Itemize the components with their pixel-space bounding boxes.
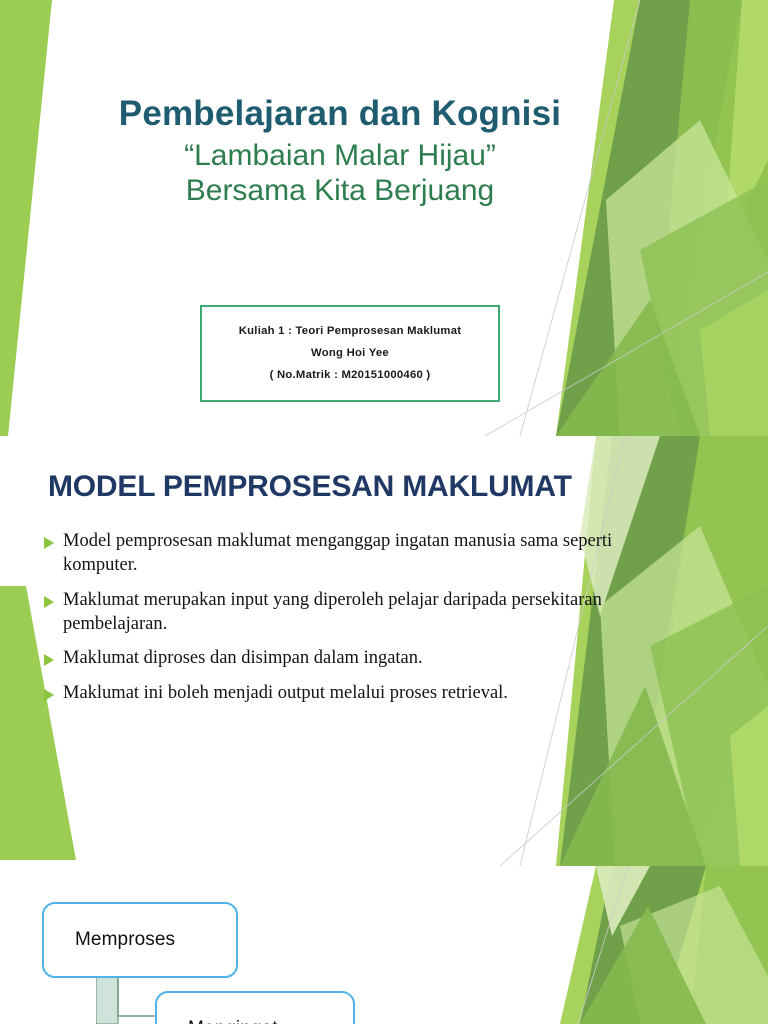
bullet-list: Model pemprosesan maklumat menganggap in… [44, 530, 624, 717]
list-item: Maklumat merupakan input yang diperoleh … [44, 589, 624, 637]
list-item-text: Model pemprosesan maklumat menganggap in… [63, 530, 624, 578]
list-item-text: Maklumat merupakan input yang diperoleh … [63, 589, 624, 637]
list-item-text: Maklumat diproses dan disimpan dalam ing… [63, 647, 423, 671]
subtitle-line-1: “Lambaian Malar Hijau” [60, 139, 620, 173]
subtitle-line-2: Bersama Kita Berjuang [60, 174, 620, 208]
course-line: Kuliah 1 : Teori Pemprosesan Maklumat [239, 326, 461, 337]
author-name: Wong Hoi Yee [311, 348, 389, 359]
author-info-box-content: Kuliah 1 : Teori Pemprosesan Maklumat Wo… [200, 305, 500, 402]
list-item: Model pemprosesan maklumat menganggap in… [44, 530, 624, 578]
slide-deck: Pembelajaran dan Kognisi “Lambaian Malar… [0, 0, 768, 1024]
triangle-bullet-icon [44, 654, 54, 666]
section-heading: MODEL PEMPROSESAN MAKLUMAT [48, 470, 572, 504]
flow-box-label: Memproses [44, 929, 175, 951]
list-item: Maklumat ini boleh menjadi output melalu… [44, 682, 624, 706]
list-item-text: Maklumat ini boleh menjadi output melalu… [63, 682, 508, 706]
matrix-number: ( No.Matrik : M20151000460 ) [270, 370, 431, 381]
flow-box-mengingat[interactable]: Mengingat [155, 991, 355, 1024]
flow-box-memproses[interactable]: Memproses [42, 902, 238, 978]
flow-box-label: Mengingat [157, 1018, 278, 1024]
triangle-bullet-icon [44, 689, 54, 701]
title-block: Pembelajaran dan Kognisi “Lambaian Malar… [60, 95, 620, 207]
triangle-bullet-icon [44, 596, 54, 608]
list-item: Maklumat diproses dan disimpan dalam ing… [44, 647, 624, 671]
triangle-bullet-icon [44, 537, 54, 549]
page-title: Pembelajaran dan Kognisi [60, 95, 620, 132]
